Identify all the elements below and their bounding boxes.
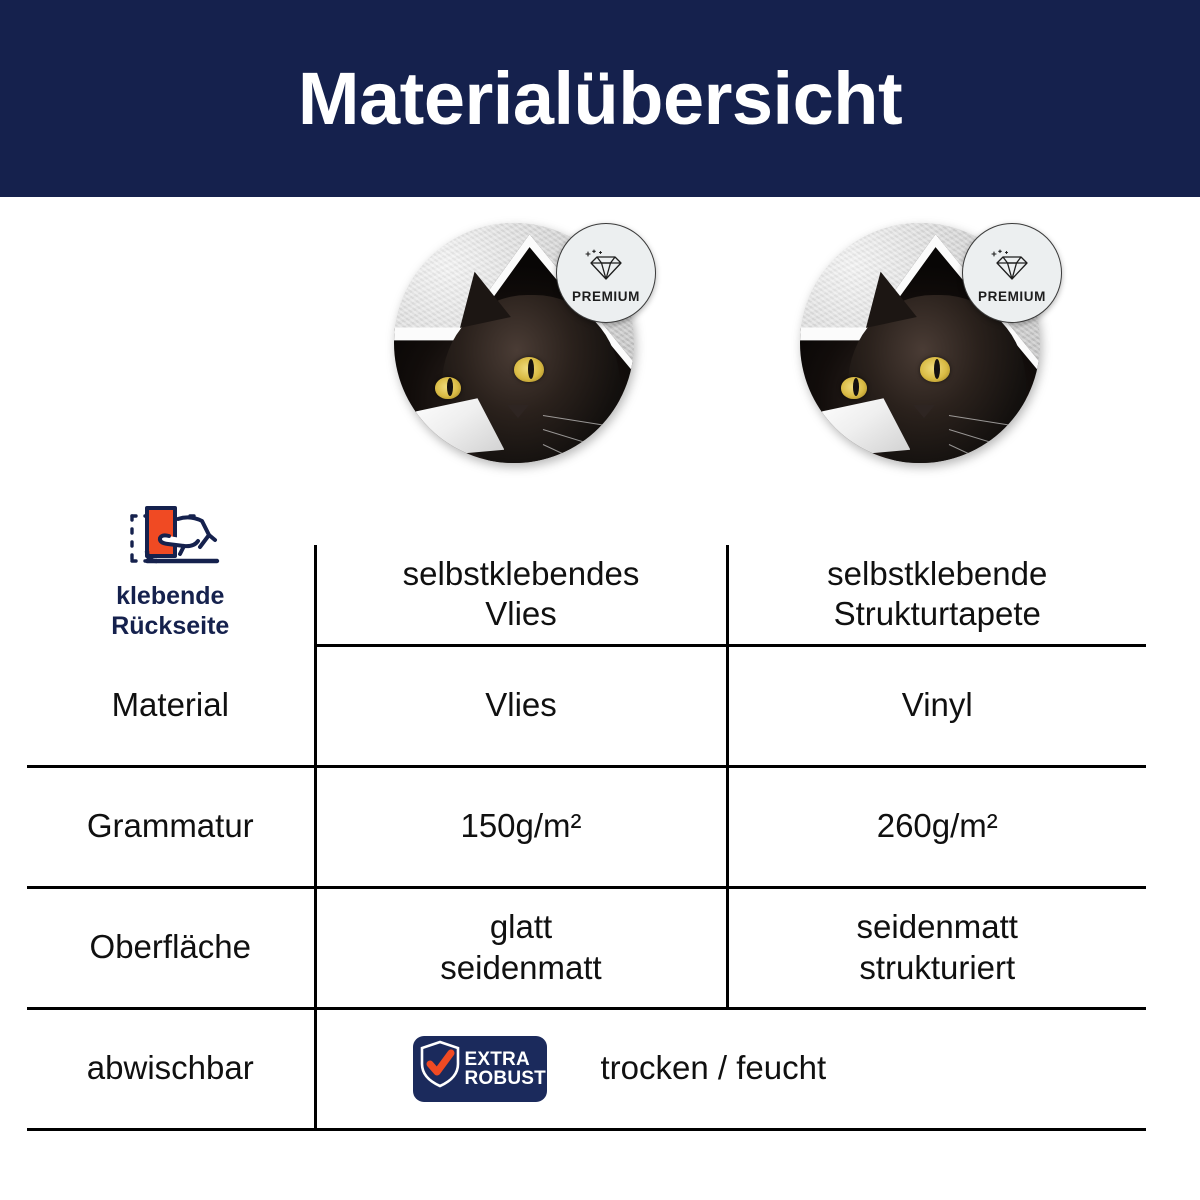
header-banner: Materialübersicht xyxy=(0,0,1200,197)
row-value-oberflaeche-strukturtapete-line2: strukturiert xyxy=(737,948,1139,988)
row-value-oberflaeche-vlies-line2: seidenmatt xyxy=(325,948,718,988)
table-row: Grammatur 150g/m² 260g/m² xyxy=(27,766,1146,887)
row-value-oberflaeche-vlies-line1: glatt xyxy=(325,907,718,947)
row-value-abwischbar-text: trocken / feucht xyxy=(601,1048,827,1088)
table-header-row: klebende Rückseite selbstklebendes Vlies… xyxy=(27,545,1146,645)
extra-robust-line1: EXTRA xyxy=(465,1050,530,1069)
material-spec-table: klebende Rückseite selbstklebendes Vlies… xyxy=(27,545,1146,1131)
cat-eye-right xyxy=(920,357,950,382)
row-value-grammatur-vlies: 150g/m² xyxy=(315,766,727,887)
row-value-oberflaeche-strukturtapete: seidenmatt strukturiert xyxy=(727,887,1146,1008)
cat-ear xyxy=(449,266,511,328)
cat-eye-right xyxy=(514,357,544,382)
product-preview-strukturtapete[interactable]: PREMIUM xyxy=(800,223,1062,475)
product-preview-strip: PREMIUM xyxy=(0,197,1200,482)
product-preview-vlies[interactable]: PREMIUM xyxy=(394,223,656,475)
row-label-material: Material xyxy=(27,645,315,766)
diamond-icon xyxy=(583,248,629,287)
extra-robust-line2: ROBUST xyxy=(465,1069,546,1088)
material-overview-page: Materialübersicht xyxy=(0,0,1200,1200)
table-row: Oberfläche glatt seidenmatt seidenmatt s… xyxy=(27,887,1146,1008)
row-value-grammatur-strukturtapete: 260g/m² xyxy=(727,766,1146,887)
premium-badge-label: PREMIUM xyxy=(978,289,1046,304)
row-value-oberflaeche-strukturtapete-line1: seidenmatt xyxy=(737,907,1139,947)
premium-badge: PREMIUM xyxy=(962,223,1062,323)
table-row: abwischbar E xyxy=(27,1008,1146,1129)
column-header-vlies: selbstklebendes Vlies xyxy=(315,545,727,645)
row-value-abwischbar: EXTRA ROBUST trocken / feucht xyxy=(315,1008,1146,1129)
adhesive-backing-label-line2: Rückseite xyxy=(111,612,229,642)
cat-nose xyxy=(913,405,935,418)
row-value-oberflaeche-vlies: glatt seidenmatt xyxy=(315,887,727,1008)
cat-nose xyxy=(507,405,529,418)
row-value-material-strukturtapete: Vinyl xyxy=(727,645,1146,766)
column-header-strukturtapete-line2: Strukturtapete xyxy=(737,594,1139,634)
cat-ear xyxy=(855,266,917,328)
diamond-icon xyxy=(989,248,1035,287)
column-header-vlies-line2: Vlies xyxy=(325,594,718,634)
row-value-material-vlies: Vlies xyxy=(315,645,727,766)
column-header-vlies-line1: selbstklebendes xyxy=(325,554,718,594)
row-label-oberflaeche: Oberfläche xyxy=(27,887,315,1008)
adhesive-backing-label-line1: klebende xyxy=(111,582,229,612)
row-label-abwischbar: abwischbar xyxy=(27,1008,315,1129)
cat-eye-left xyxy=(435,377,461,399)
shield-check-icon xyxy=(419,1040,461,1097)
extra-robust-badge: EXTRA ROBUST xyxy=(413,1036,547,1102)
row-label-grammatur: Grammatur xyxy=(27,766,315,887)
premium-badge: PREMIUM xyxy=(556,223,656,323)
column-header-strukturtapete: selbstklebende Strukturtapete xyxy=(727,545,1146,645)
table-row: Material Vlies Vinyl xyxy=(27,645,1146,766)
adhesive-peel-icon xyxy=(116,499,224,582)
cat-eye-left xyxy=(841,377,867,399)
column-header-strukturtapete-line1: selbstklebende xyxy=(737,554,1139,594)
page-title: Materialübersicht xyxy=(298,62,902,136)
premium-badge-label: PREMIUM xyxy=(572,289,640,304)
adhesive-backing-cell: klebende Rückseite xyxy=(27,545,315,645)
